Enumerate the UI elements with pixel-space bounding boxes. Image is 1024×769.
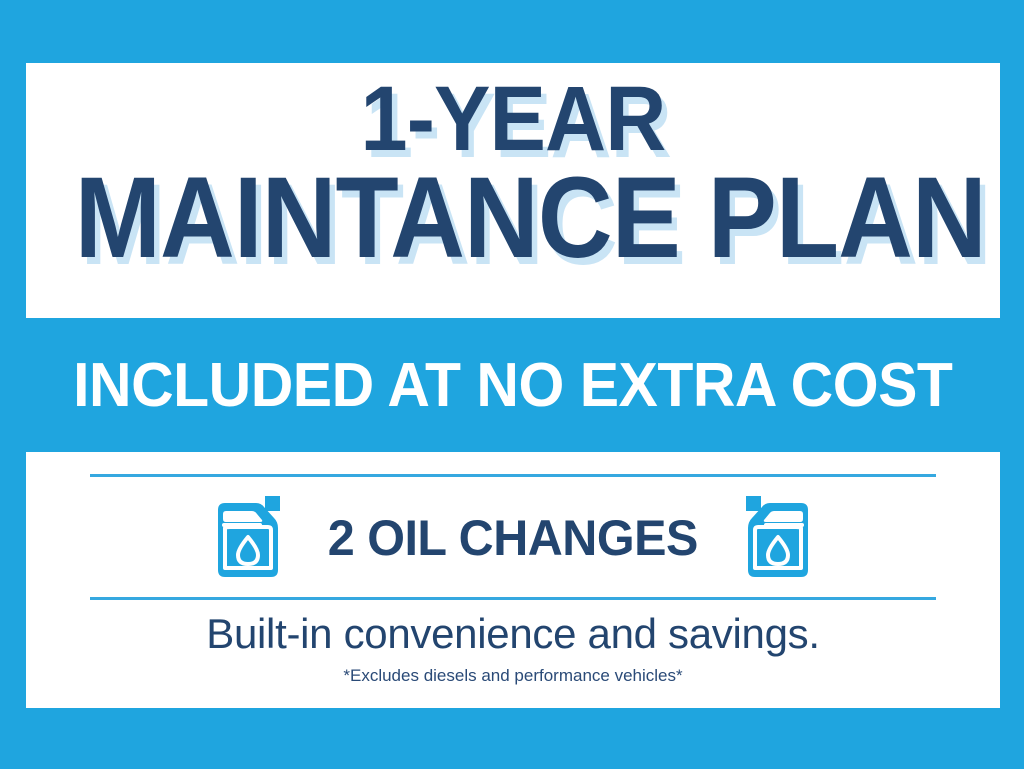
tagline-text: Built-in convenience and savings. — [26, 610, 1000, 658]
oil-jug-icon-left — [208, 494, 284, 582]
divider-top — [90, 474, 936, 477]
headline-stack: 1-YEAR MAINTANCE PLAN — [26, 77, 1000, 271]
details-card: 2 OIL CHANGES Built-in convenience and s… — [26, 452, 1000, 708]
oil-jug-icon-right — [742, 494, 818, 582]
divider-bottom — [90, 597, 936, 600]
subtitle-text: INCLUDED AT NO EXTRA COST — [73, 350, 952, 421]
oil-jug-icon — [742, 494, 818, 582]
headline-line-1: 1-YEAR — [65, 77, 961, 162]
offer-row: 2 OIL CHANGES — [26, 482, 1000, 594]
promo-poster: 1-YEAR MAINTANCE PLAN INCLUDED AT NO EXT… — [0, 0, 1024, 769]
headline-card: 1-YEAR MAINTANCE PLAN — [26, 63, 1000, 318]
headline-line-2: MAINTANCE PLAN — [75, 166, 952, 272]
oil-jug-icon — [208, 494, 284, 582]
offer-label: 2 OIL CHANGES — [328, 509, 698, 567]
subtitle-band: INCLUDED AT NO EXTRA COST — [26, 318, 1000, 452]
disclaimer-text: *Excludes diesels and performance vehicl… — [26, 666, 1000, 686]
